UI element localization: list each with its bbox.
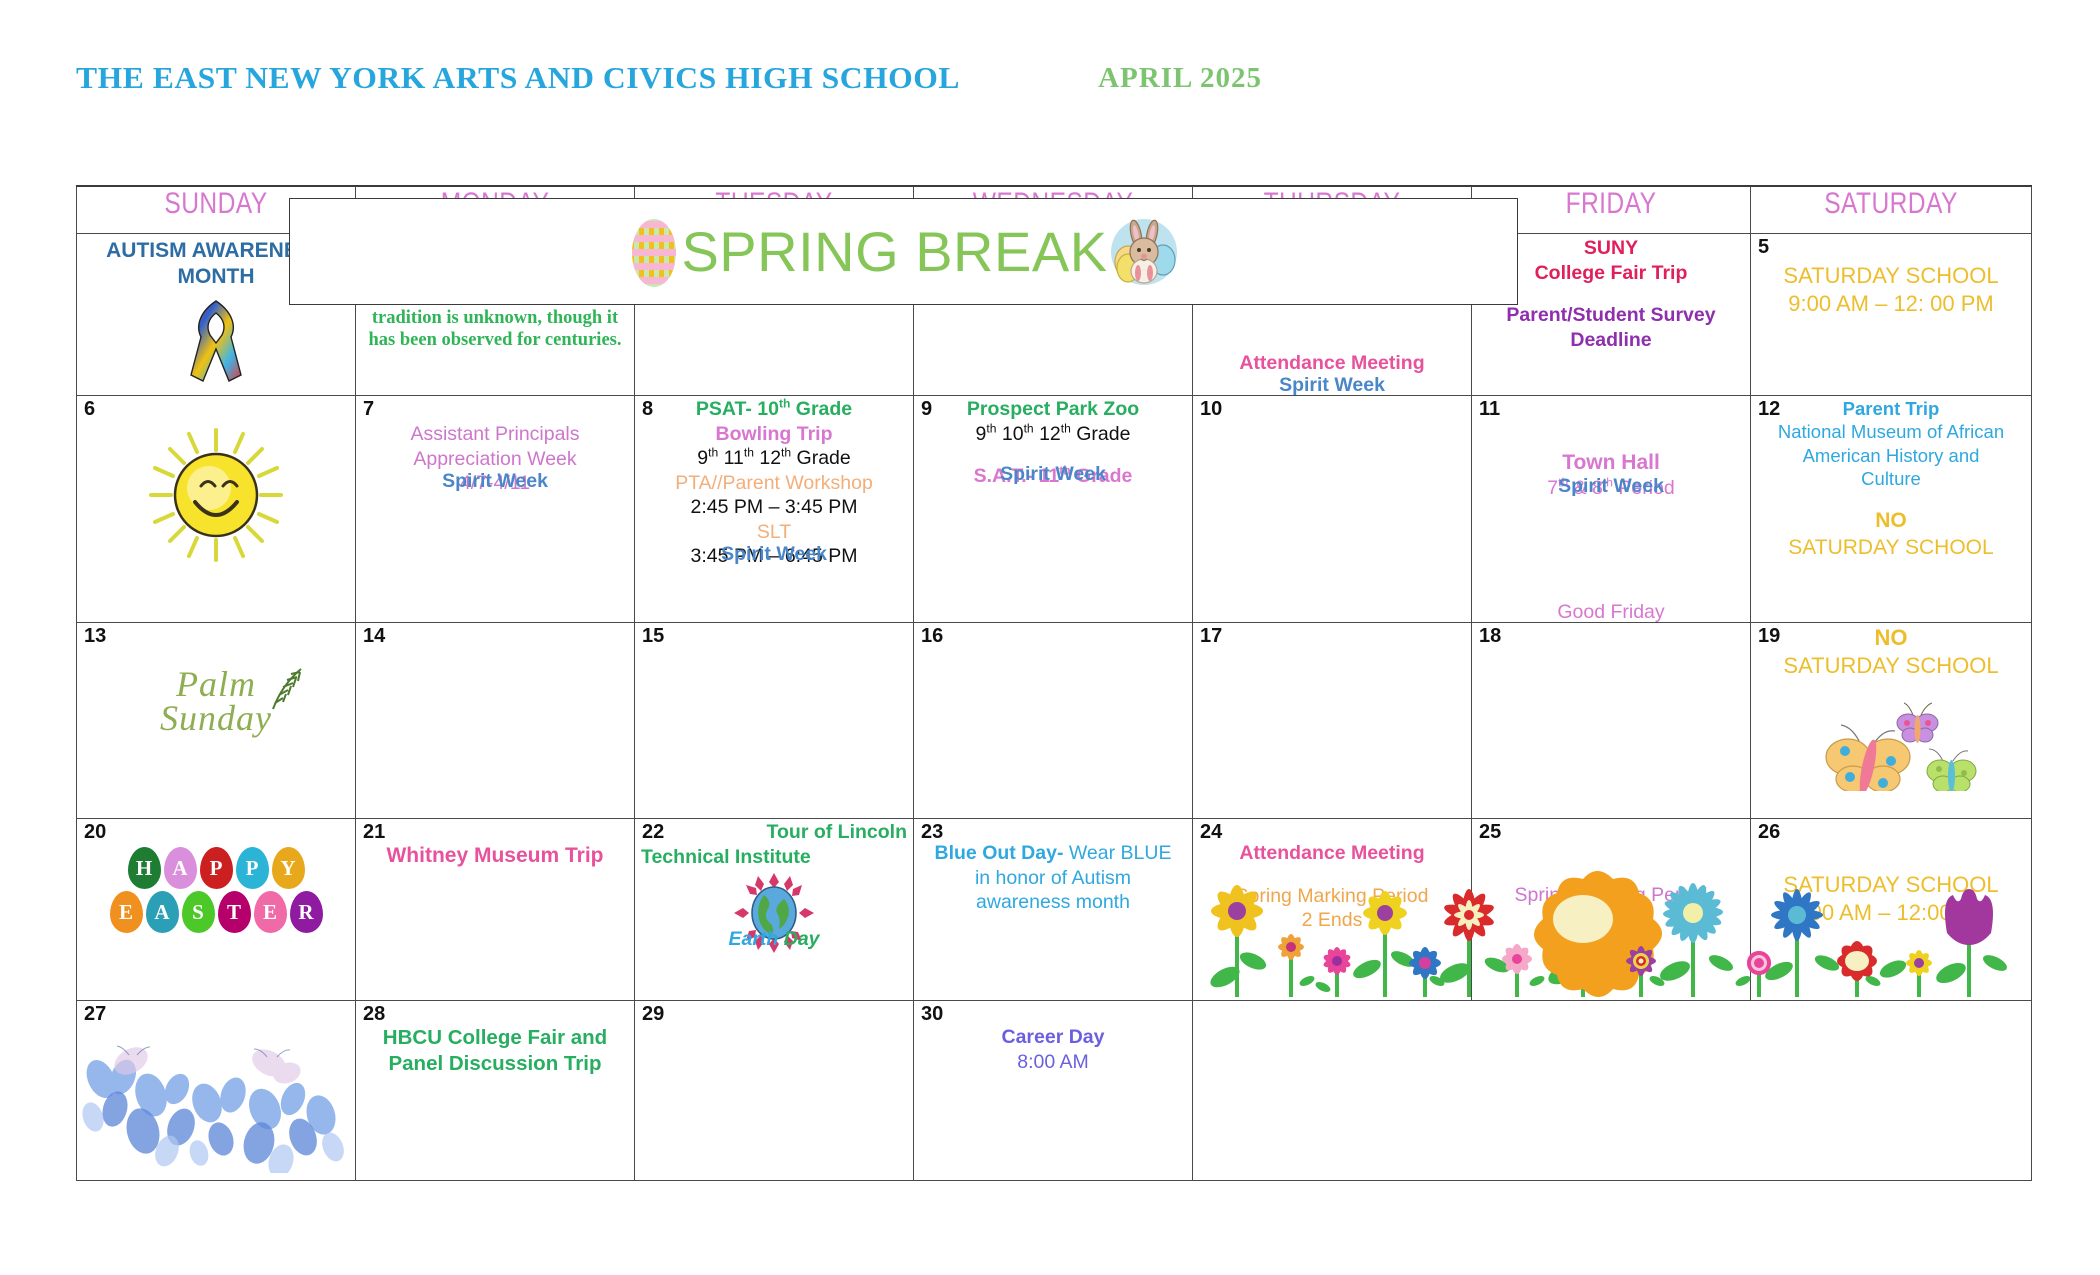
event-text: Spirit Week <box>914 462 1192 487</box>
event-text: Prospect Park Zoo <box>920 397 1186 422</box>
easter-egg-letter: A <box>164 847 197 889</box>
event-text: Appreciation Week <box>362 447 628 472</box>
day-cell-17[interactable]: 17 <box>1193 623 1472 819</box>
event-text: NO <box>1757 624 2025 652</box>
day-cell-22[interactable]: 22 Tour of Lincoln Technical Institute <box>635 819 914 1001</box>
day-cell-29[interactable]: 29 <box>635 1001 914 1181</box>
event-text: National Museum of African <box>1757 420 2025 443</box>
spring-break-label: SPRING BREAK <box>681 219 1107 284</box>
event-text: Spirit Week <box>1472 474 1750 499</box>
easter-egg-letter: T <box>218 891 251 933</box>
easter-egg-letter: A <box>146 891 179 933</box>
easter-egg-letter: S <box>182 891 215 933</box>
easter-egg-letter: H <box>128 847 161 889</box>
day-cell-7[interactable]: 7 Assistant Principals Appreciation Week… <box>356 396 635 623</box>
cell-body: Career Day 8:00 AM <box>914 1001 1192 1076</box>
day-cell-14[interactable]: 14 <box>356 623 635 819</box>
flower-border-cell <box>1193 1001 2032 1181</box>
easter-egg-letter: Y <box>272 847 305 889</box>
weekday-label: FRIDAY <box>1497 187 1725 221</box>
event-text: awareness month <box>920 890 1186 915</box>
day-cell-15[interactable]: 15 <box>635 623 914 819</box>
palm-frond-icon <box>253 665 307 713</box>
day-cell-28[interactable]: 28 HBCU College Fair and Panel Discussio… <box>356 1001 635 1181</box>
easter-egg-letter: P <box>200 847 233 889</box>
cell-body: NO SATURDAY SCHOOL <box>1751 623 2031 681</box>
day-number: 18 <box>1479 626 1501 646</box>
day-number: 20 <box>84 822 106 842</box>
day-cell-19[interactable]: 19 NO SATURDAY SCHOOL <box>1751 623 2032 819</box>
easter-egg-letter: E <box>254 891 287 933</box>
day-cell-11[interactable]: 11 Town Hall 7th & 8th Period Spirit Wee… <box>1472 396 1751 623</box>
blue-butterflies-icon <box>81 1043 353 1173</box>
event-text: Spirit Week <box>356 469 634 494</box>
easter-word-line-1: HAPPY <box>77 847 355 889</box>
calendar-grid: SUNDAY MONDAY TUESDAY WEDNESDAY THURSDAY… <box>76 185 2032 1181</box>
spacer <box>1757 490 2025 508</box>
event-text: 9th 10th 12th Grade <box>920 422 1186 447</box>
event-text: 9th 11th 12th Grade <box>641 446 907 471</box>
day-number: 15 <box>642 626 664 646</box>
happy-easter-eggs: HAPPY EASTER <box>77 845 355 933</box>
easter-word-line-2: EASTER <box>77 891 355 933</box>
calendar-week-row: 6 <box>77 396 2032 623</box>
day-number: 10 <box>1200 399 1222 419</box>
autism-ribbon-icon <box>185 297 247 383</box>
palm-sunday-script: Palm Sunday <box>77 667 355 735</box>
day-cell-16[interactable]: 16 <box>914 623 1193 819</box>
day-cell-23[interactable]: 23 Blue Out Day- Wear BLUE in honor of A… <box>914 819 1193 1001</box>
event-text: Panel Discussion Trip <box>362 1051 628 1077</box>
event-text: SATURDAY SCHOOL <box>1757 262 2025 290</box>
calendar-week-row: 27 <box>77 1001 2032 1181</box>
event-text: 9:00 AM – 12: 00 PM <box>1757 290 2025 318</box>
day-number: 16 <box>921 626 943 646</box>
event-text: Good Friday <box>1472 600 1750 625</box>
cell-body: SATURDAY SCHOOL 9:00 AM – 12: 00 PM <box>1751 234 2031 319</box>
event-text: Parent Trip <box>1757 397 2025 420</box>
day-number: 13 <box>84 626 106 646</box>
day-cell-12[interactable]: 12 Parent Trip National Museum of Africa… <box>1751 396 2032 623</box>
easter-egg-icon <box>627 215 681 289</box>
event-text: Spirit Week <box>1193 373 1471 398</box>
weekday-label: SATURDAY <box>1776 187 2006 221</box>
event-text: SATURDAY SCHOOL <box>1757 652 2025 680</box>
event-text: Town Hall <box>1478 450 1744 476</box>
event-text: PTA//Parent Workshop <box>641 471 907 496</box>
event-text: Culture <box>1757 467 2025 490</box>
event-text: Attendance Meeting <box>1199 841 1465 866</box>
day-cell-10[interactable]: 10 Attendance Meeting Spirit Week <box>1193 396 1472 623</box>
school-name: THE EAST NEW YORK ARTS AND CIVICS HIGH S… <box>76 60 960 96</box>
event-text: SATURDAY SCHOOL <box>1757 535 2025 561</box>
day-cell-30[interactable]: 30 Career Day 8:00 AM <box>914 1001 1193 1181</box>
day-cell-6[interactable]: 6 <box>77 396 356 623</box>
event-text: Career Day <box>920 1025 1186 1050</box>
cell-body: Tour of Lincoln Technical Institute <box>635 819 913 957</box>
event-text: Bowling Trip <box>641 422 907 447</box>
day-number: 17 <box>1200 626 1222 646</box>
page-header: THE EAST NEW YORK ARTS AND CIVICS HIGH S… <box>0 60 2100 112</box>
day-number: 27 <box>84 1004 106 1024</box>
cell-body: Parent Trip National Museum of African A… <box>1751 396 2031 563</box>
event-text: SLT <box>641 520 907 545</box>
cell-body: Blue Out Day- Wear BLUE in honor of Auti… <box>914 819 1192 917</box>
weekday-header-saturday: SATURDAY <box>1751 186 2032 234</box>
easter-egg-letter: E <box>110 891 143 933</box>
cell-body: Assistant Principals Appreciation Week 4… <box>356 396 634 498</box>
event-text: Assistant Principals <box>362 422 628 447</box>
flower-border-icon <box>1197 869 2029 999</box>
event-text: Whitney Museum Trip <box>362 843 628 869</box>
butterflies-icon <box>1793 699 1993 791</box>
day-cell-27[interactable]: 27 <box>77 1001 356 1181</box>
palm-line-1: Palm <box>77 667 355 701</box>
event-text: Spirit Week <box>635 542 913 567</box>
event-text: Parent/Student Survey <box>1478 303 1744 328</box>
earth-word: Earth <box>728 928 778 950</box>
wear-blue-label: Wear BLUE <box>1063 842 1171 864</box>
cell-body: PSAT- 10th Grade Bowling Trip 9th 11th 1… <box>635 396 913 571</box>
calendar-page: THE EAST NEW YORK ARTS AND CIVICS HIGH S… <box>0 0 2100 1275</box>
cell-body: Prospect Park Zoo 9th 10th 12th Grade S.… <box>914 396 1192 491</box>
calendar-week-row: 13 Palm Sunday <box>77 623 2032 819</box>
day-cell-21[interactable]: 21 Whitney Museum Trip <box>356 819 635 1001</box>
easter-egg-letter: R <box>290 891 323 933</box>
day-word-2: Day <box>784 928 820 950</box>
day-number: 29 <box>642 1004 664 1024</box>
event-text: 8:00 AM <box>920 1050 1186 1075</box>
day-number: 14 <box>363 626 385 646</box>
event-text: Deadline <box>1478 328 1744 353</box>
cell-body: Whitney Museum Trip <box>356 819 634 871</box>
day-cell-5[interactable]: 5 SATURDAY SCHOOL 9:00 AM – 12: 00 PM <box>1751 234 2032 396</box>
earth-day-label: Earth Day <box>635 927 913 952</box>
day-cell-8[interactable]: 8 PSAT- 10th Grade Bowling Trip 9th 11th… <box>635 396 914 623</box>
day-cell-20[interactable]: 20 HAPPY EASTER <box>77 819 356 1001</box>
event-text: Attendance Meeting <box>1193 351 1471 376</box>
event-text: NO <box>1757 508 2025 534</box>
palm-line-2: Sunday <box>77 701 355 735</box>
spring-break-banner: SPRING BREAK <box>289 198 1518 305</box>
event-text: Tour of Lincoln <box>641 820 907 845</box>
event-text: 2:45 PM – 3:45 PM <box>641 495 907 520</box>
day-cell-18[interactable]: 18 Good Friday <box>1472 623 1751 819</box>
day-cell-9[interactable]: 9 Prospect Park Zoo 9th 10th 12th Grade … <box>914 396 1193 623</box>
event-text: Blue Out Day- Wear BLUE <box>920 841 1186 866</box>
cell-body: HBCU College Fair and Panel Discussion T… <box>356 1001 634 1079</box>
smiling-sun-icon <box>77 420 355 575</box>
day-number: 6 <box>84 399 95 419</box>
month-title: APRIL 2025 <box>1098 62 1262 95</box>
event-text: Technical Institute <box>641 845 907 870</box>
easter-egg-letter: P <box>236 847 269 889</box>
event-text: HBCU College Fair and <box>362 1025 628 1051</box>
event-text: American History and <box>1757 444 2025 467</box>
cell-body: Attendance Meeting Spirit Week <box>1193 396 1471 402</box>
event-text: PSAT- 10th Grade <box>641 397 907 422</box>
blue-out-day-label: Blue Out Day- <box>935 842 1064 864</box>
cell-body: Good Friday <box>1472 623 1750 629</box>
cell-body: Town Hall 7th & 8th Period Spirit Week <box>1472 396 1750 503</box>
easter-bunny-icon <box>1108 216 1180 288</box>
event-text: in honor of Autism <box>920 866 1186 891</box>
day-cell-13[interactable]: 13 Palm Sunday <box>77 623 356 819</box>
